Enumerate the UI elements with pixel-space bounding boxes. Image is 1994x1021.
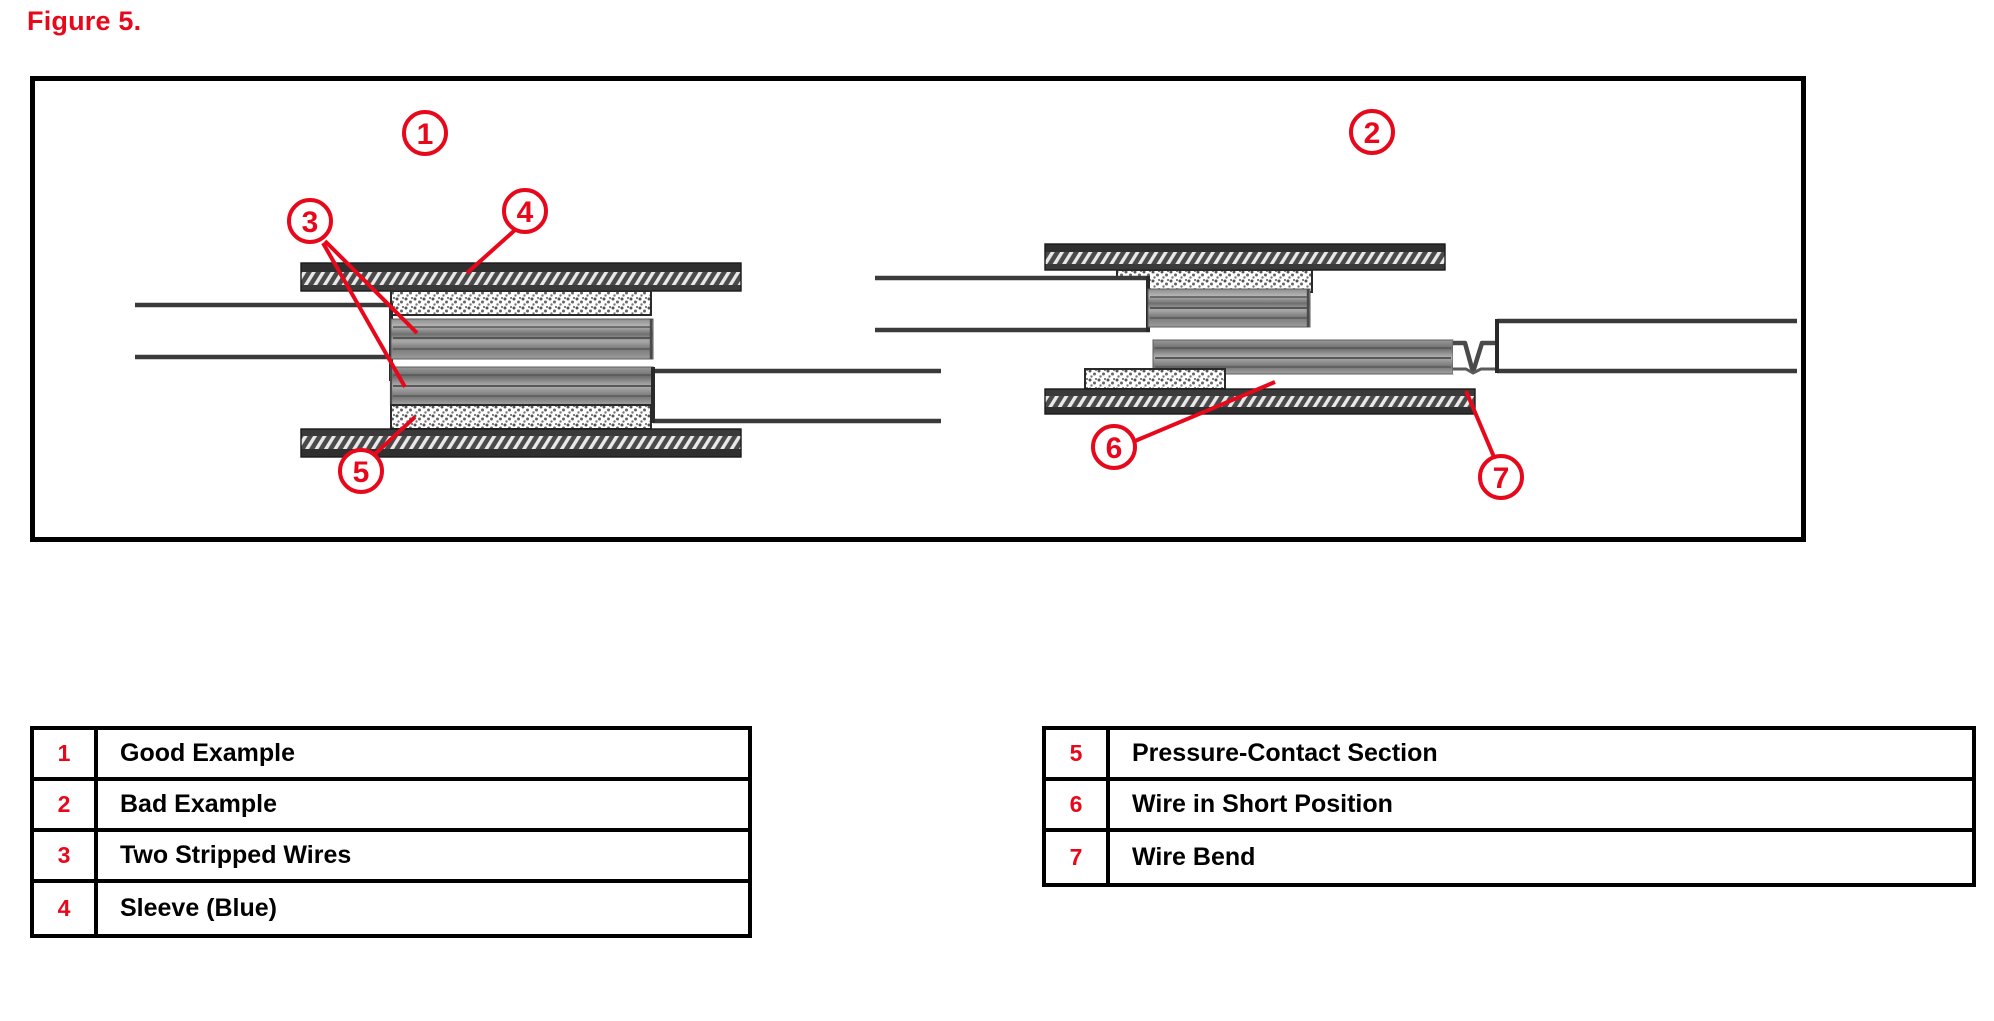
legend-label: Two Stripped Wires	[98, 832, 748, 879]
legend-row: 1 Good Example	[34, 730, 748, 781]
legend-label: Good Example	[98, 730, 748, 777]
legend-number: 4	[34, 883, 98, 934]
legend-label: Bad Example	[98, 781, 748, 828]
callout-2: 2	[1351, 111, 1393, 153]
callout-1: 1	[404, 112, 446, 154]
callout-4: 4	[467, 190, 546, 273]
legend-label: Pressure-Contact Section	[1110, 730, 1972, 777]
pressure-contact-section-lower	[391, 405, 651, 429]
legend-number: 7	[1046, 832, 1110, 883]
callout-1-label: 1	[417, 118, 434, 151]
legend-number: 2	[34, 781, 98, 828]
stripped-wire-upper	[391, 319, 653, 359]
page-title: Figure 5.	[27, 6, 141, 37]
bad-sleeve-upper-band	[1045, 244, 1445, 270]
callout-7-label: 7	[1493, 462, 1510, 495]
legend-number: 1	[34, 730, 98, 777]
callout-7: 7	[1466, 391, 1522, 498]
bad-example-assembly	[875, 244, 1797, 414]
diagram-frame: 1 3 4 5	[30, 76, 1806, 542]
legend-row: 7 Wire Bend	[1046, 832, 1972, 883]
wire-upper-left-insulation	[135, 303, 393, 381]
legend-row: 6 Wire in Short Position	[1046, 781, 1972, 832]
stripped-wire-short-position	[1148, 289, 1310, 327]
bad-pressure-contact-lower	[1085, 369, 1225, 389]
legend-label: Sleeve (Blue)	[98, 883, 748, 934]
legend-number: 5	[1046, 730, 1110, 777]
stripped-wire-lower	[391, 367, 653, 405]
legend-label: Wire in Short Position	[1110, 781, 1972, 828]
legend-row: 3 Two Stripped Wires	[34, 832, 748, 883]
callout-6-label: 6	[1106, 432, 1123, 465]
pressure-contact-section-upper	[391, 291, 651, 315]
wire-upper-left-short	[875, 276, 1150, 332]
callout-3-label: 3	[302, 206, 319, 239]
callout-5-label: 5	[353, 456, 370, 489]
legend-number: 6	[1046, 781, 1110, 828]
good-example-assembly	[135, 263, 941, 457]
sleeve-upper-band	[301, 263, 741, 291]
legend-number: 3	[34, 832, 98, 879]
bad-sleeve-lower-band	[1045, 389, 1475, 414]
wire-lower-right-insulation	[651, 367, 941, 423]
legend-row: 2 Bad Example	[34, 781, 748, 832]
callout-4-label: 4	[517, 196, 534, 229]
legend-label: Wire Bend	[1110, 832, 1972, 883]
legend-row: 5 Pressure-Contact Section	[1046, 730, 1972, 781]
splice-cross-section-drawing: 1 3 4 5	[35, 81, 1801, 537]
wire-right-insulation	[1497, 319, 1797, 373]
legend-row: 4 Sleeve (Blue)	[34, 883, 748, 934]
callout-2-label: 2	[1364, 117, 1381, 150]
legend-table-left: 1 Good Example 2 Bad Example 3 Two Strip…	[30, 726, 752, 938]
figure-page: Figure 5.	[0, 0, 1994, 1021]
legend-table-right: 5 Pressure-Contact Section 6 Wire in Sho…	[1042, 726, 1976, 887]
